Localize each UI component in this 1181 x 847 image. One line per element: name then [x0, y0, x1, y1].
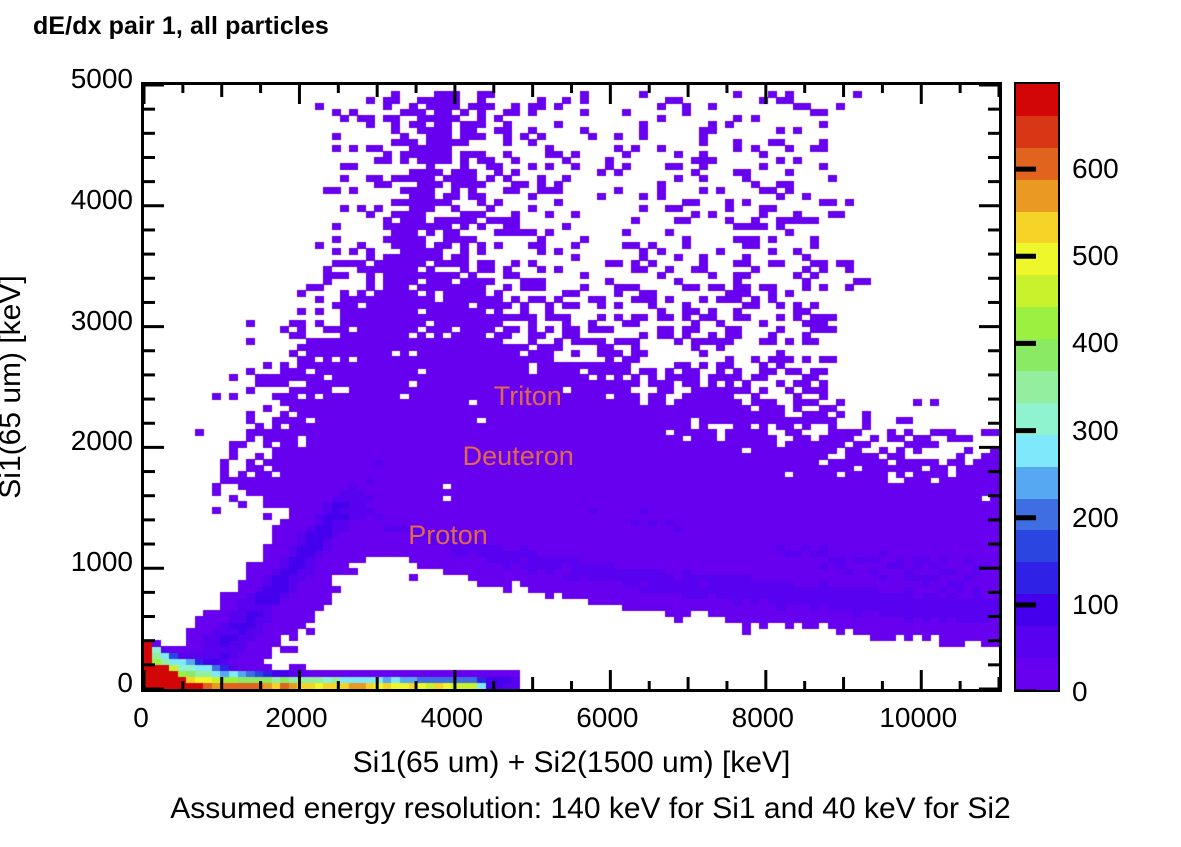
band-label-deuteron: Deuteron	[463, 443, 574, 470]
y-tick-label: 0	[117, 667, 133, 699]
color-bar-tick-label: 100	[1072, 589, 1119, 621]
color-bar-band	[1016, 180, 1058, 212]
color-bar-band	[1016, 339, 1058, 371]
color-bar-band	[1016, 371, 1058, 403]
color-bar-band	[1016, 275, 1058, 307]
color-bar-band	[1016, 84, 1058, 116]
color-bar-tick-label: 0	[1072, 676, 1088, 708]
color-bar-band	[1016, 562, 1058, 594]
color-bar-band	[1016, 594, 1058, 626]
x-tick-label: 2000	[265, 702, 327, 734]
x-tick-label: 10000	[879, 702, 957, 734]
color-bar-tick-label: 600	[1072, 153, 1119, 185]
color-bar-band	[1016, 530, 1058, 562]
x-tick-label: 4000	[421, 702, 483, 734]
color-bar-tick-label: 300	[1072, 415, 1119, 447]
color-bar-band	[1016, 116, 1058, 148]
color-bar-band	[1016, 499, 1058, 531]
color-bar-tick-label: 400	[1072, 327, 1119, 359]
x-tick-label: 0	[133, 702, 149, 734]
color-bar[interactable]	[1014, 82, 1060, 692]
color-bar-band	[1016, 467, 1058, 499]
y-axis-title: Si1(65 um) [keV]	[0, 82, 28, 692]
x-axis-title: Si1(65 um) + Si2(1500 um) [keV]	[141, 746, 1002, 780]
y-tick-label: 2000	[71, 425, 133, 457]
color-bar-band	[1016, 403, 1058, 435]
color-bar-tick-label: 500	[1072, 240, 1119, 272]
plot-frame[interactable]: TritonDeuteronProton	[141, 82, 1002, 692]
figure-caption: Assumed energy resolution: 140 keV for S…	[0, 792, 1181, 826]
color-bar-band	[1016, 212, 1058, 244]
color-bar-band	[1016, 626, 1058, 658]
color-bar-band	[1016, 243, 1058, 275]
x-tick-label: 8000	[732, 702, 794, 734]
histogram-canvas[interactable]	[144, 85, 999, 689]
color-bar-band	[1016, 658, 1058, 690]
plot-page: dE/dx pair 1, all particles 010002000300…	[0, 0, 1181, 847]
color-bar-tick-label: 200	[1072, 502, 1119, 534]
x-tick-label: 6000	[576, 702, 638, 734]
color-bar-band	[1016, 148, 1058, 180]
y-tick-label: 4000	[71, 184, 133, 216]
color-bar-band	[1016, 307, 1058, 339]
band-label-triton: Triton	[494, 383, 562, 410]
y-tick-label: 1000	[71, 546, 133, 578]
y-tick-label: 3000	[71, 305, 133, 337]
color-bar-band	[1016, 435, 1058, 467]
band-label-proton: Proton	[408, 522, 488, 549]
y-tick-label: 5000	[71, 63, 133, 95]
